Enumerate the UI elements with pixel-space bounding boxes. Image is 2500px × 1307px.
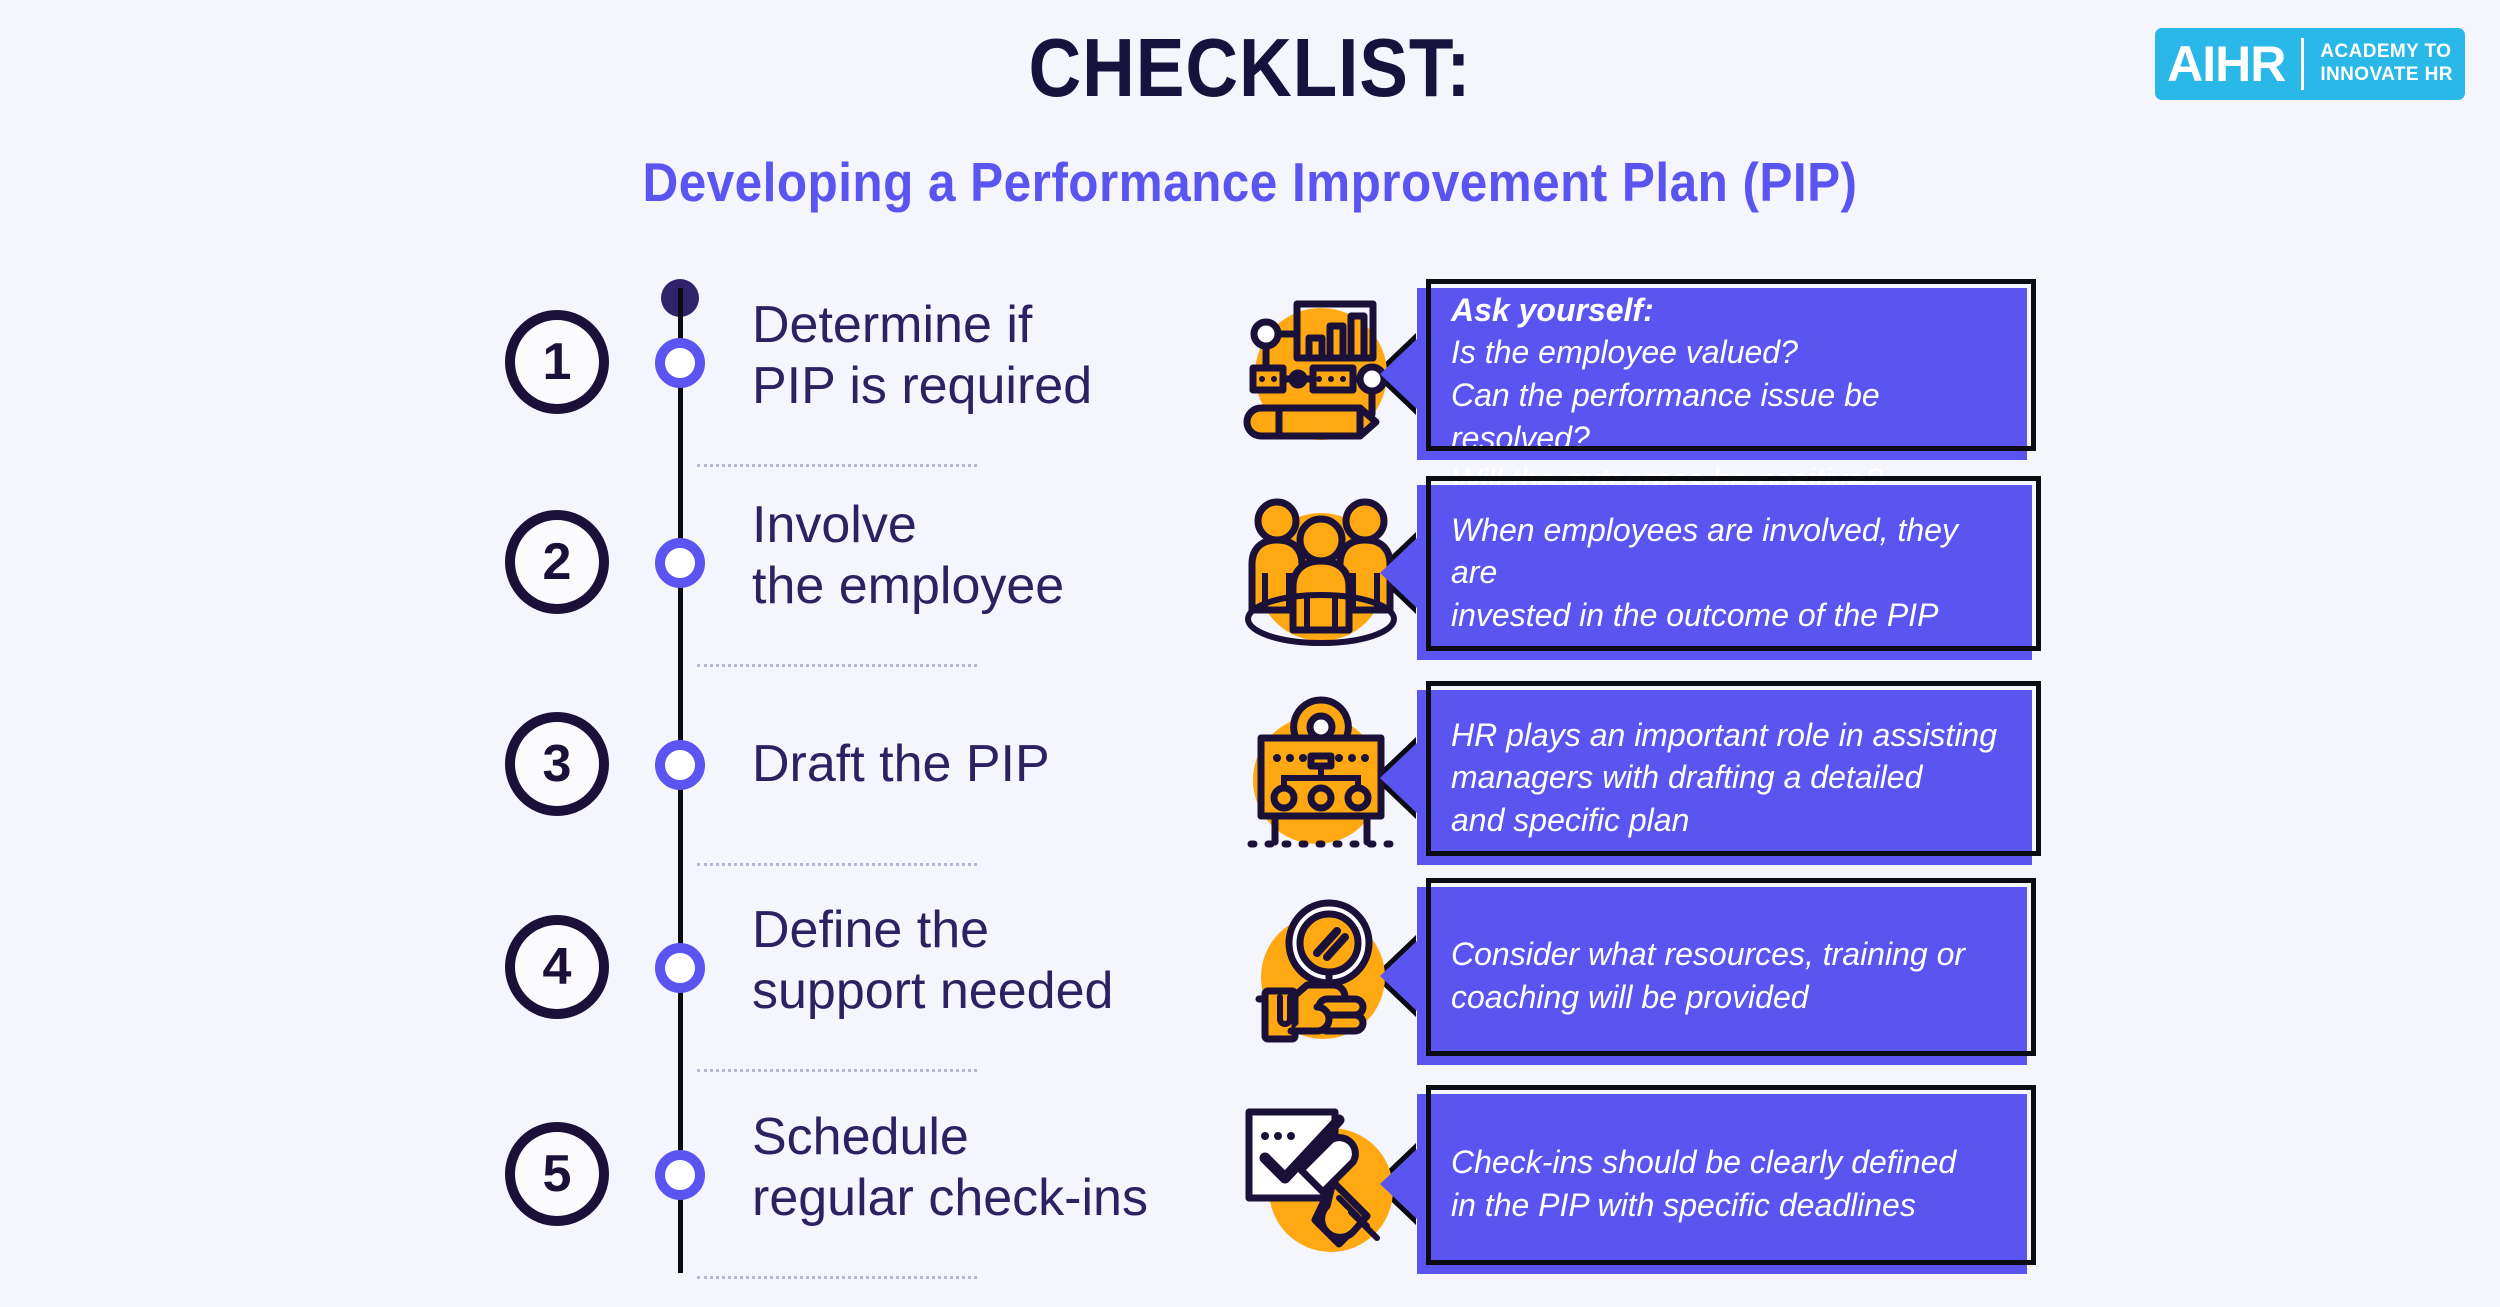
step-divider [697, 1276, 977, 1279]
callout-text: Check-ins should be clearly defined in t… [1417, 1141, 1990, 1226]
callout-body: Check-ins should be clearly defined in t… [1417, 1094, 2027, 1274]
callout-text: When employees are involved, they are in… [1417, 509, 2032, 637]
step-label: Schedule regular check-ins [752, 1107, 1148, 1229]
step-divider [697, 863, 977, 866]
step-callout: Consider what resources, training or coa… [1417, 887, 2027, 1065]
checklist-row: 5 Schedule regular check-ins [0, 1100, 2500, 1290]
callout-notch [1380, 537, 1418, 609]
step-callout: HR plays an important role in assisting … [1417, 690, 2032, 865]
callout-text: HR plays an important role in assisting … [1417, 714, 2031, 842]
checklist-row: 4 Define the support needed [0, 893, 2500, 1083]
callout-notch [1380, 742, 1418, 814]
step-label: Define the support needed [752, 900, 1113, 1022]
timeline-marker [655, 538, 705, 588]
callout-text: Consider what resources, training or coa… [1417, 933, 1999, 1018]
step-number-badge: 4 [505, 915, 609, 1019]
step-divider [697, 664, 977, 667]
callout-body: Ask yourself:Is the employee valued? Can… [1417, 288, 2027, 460]
callout-text: Is the employee valued? Can the performa… [1451, 334, 1883, 498]
step-number-badge: 5 [505, 1122, 609, 1226]
callout-body: Consider what resources, training or coa… [1417, 887, 2027, 1065]
step-callout: When employees are involved, they are in… [1417, 485, 2032, 660]
step-callout: Ask yourself:Is the employee valued? Can… [1417, 288, 2027, 460]
step-callout: Check-ins should be clearly defined in t… [1417, 1094, 2027, 1274]
callout-notch [1380, 1148, 1418, 1220]
page-subtitle: Developing a Performance Improvement Pla… [125, 150, 2375, 214]
callout-notch [1380, 338, 1418, 410]
step-number-badge: 2 [505, 510, 609, 614]
timeline-marker [655, 943, 705, 993]
step-number-badge: 3 [505, 712, 609, 816]
step-divider [697, 464, 977, 467]
step-divider [697, 1069, 977, 1072]
checklist-row: 3 Draft the PIP [0, 696, 2500, 886]
timeline-marker [655, 338, 705, 388]
page-title: CHECKLIST: [150, 20, 2350, 116]
callout-notch [1380, 940, 1418, 1012]
step-label: Involve the employee [752, 495, 1064, 617]
checklist-row: 2 Involve the employee [0, 488, 2500, 678]
timeline-marker [655, 1150, 705, 1200]
step-number-badge: 1 [505, 310, 609, 414]
callout-heading: Ask yourself: [1451, 292, 1654, 328]
step-label: Determine if PIP is required [752, 295, 1092, 417]
step-label: Draft the PIP [752, 734, 1050, 795]
checklist-row: 1 Determine if PIP is required [0, 288, 2500, 478]
timeline-marker [655, 740, 705, 790]
callout-body: HR plays an important role in assisting … [1417, 690, 2032, 865]
callout-body: When employees are involved, they are in… [1417, 485, 2032, 660]
